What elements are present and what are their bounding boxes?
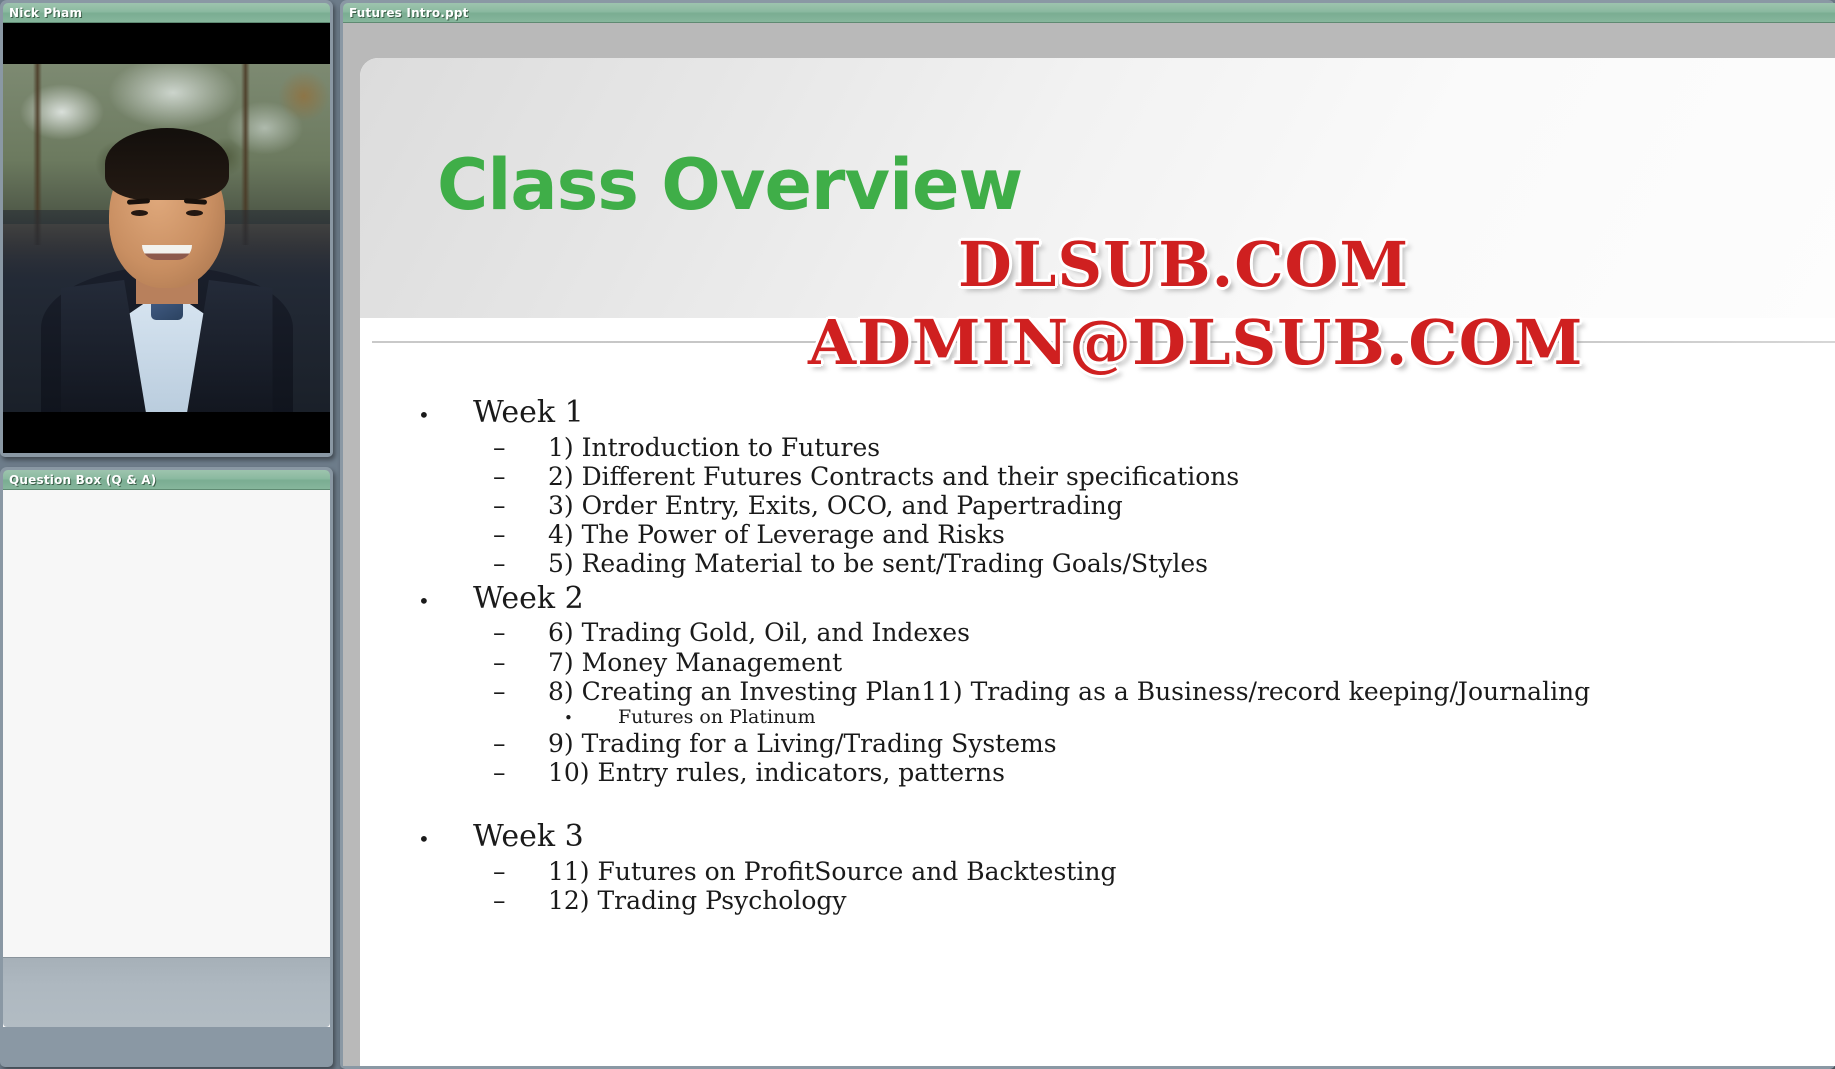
outline-item-level-2: –9) Trading for a Living/Trading Systems	[418, 729, 1805, 758]
outline-item-level-1: •Week 1	[418, 393, 1805, 433]
eye-left	[131, 210, 148, 216]
presenter-video-title: Nick Pham	[9, 6, 82, 20]
outline-bullet-marker: –	[418, 886, 548, 915]
outline-bullet-marker: –	[418, 677, 548, 706]
webinar-window: Nick Pham	[0, 0, 1835, 1069]
presentation-file-title: Futures Intro.ppt	[349, 6, 469, 20]
outline-item-level-3: •Futures on Platinum	[418, 706, 1805, 729]
outline-item-text: 9) Trading for a Living/Trading Systems	[548, 729, 1057, 758]
outline-bullet-marker: •	[418, 588, 473, 615]
slide-canvas[interactable]: Class Overview DLSUB.COM ADMIN@DLSUB.COM…	[360, 58, 1835, 1066]
outline-item-level-2: –4) The Power of Leverage and Risks	[418, 520, 1805, 549]
outline-item-text: 2) Different Futures Contracts and their…	[548, 462, 1239, 491]
outline-bullet-marker: –	[418, 549, 548, 578]
outline-item-text: Week 2	[473, 579, 584, 619]
question-box-body	[3, 490, 330, 1027]
outline-bullet-marker: •	[418, 402, 473, 429]
outline-item-level-2: –8) Creating an Investing Plan11) Tradin…	[418, 677, 1805, 706]
eye-right	[186, 210, 203, 216]
outline-item-text: Week 1	[473, 393, 584, 433]
outline-bullet-marker: –	[418, 491, 548, 520]
outline-item-text: 8) Creating an Investing Plan11) Trading…	[548, 677, 1590, 706]
outline-item-text: 12) Trading Psychology	[548, 886, 847, 915]
slide-heading: Class Overview	[437, 150, 1022, 220]
video-stage[interactable]	[3, 23, 330, 453]
outline-item-level-2: –11) Futures on ProfitSource and Backtes…	[418, 857, 1805, 886]
outline-item-level-2: –2) Different Futures Contracts and thei…	[418, 462, 1805, 491]
presenter-figure	[17, 64, 317, 412]
outline-item-level-2: –1) Introduction to Futures	[418, 433, 1805, 462]
outline-bullet-marker: •	[418, 826, 473, 853]
presenter-video-panel: Nick Pham	[0, 0, 333, 457]
question-box-panel: Question Box (Q & A)	[0, 467, 333, 1067]
outline-bullet-marker: –	[418, 618, 548, 647]
outline-item-level-1: •Week 2	[418, 579, 1805, 619]
presenter-video-titlebar: Nick Pham	[3, 3, 330, 23]
outline-item-text: 7) Money Management	[548, 648, 842, 677]
outline-item-text: 11) Futures on ProfitSource and Backtest…	[548, 857, 1116, 886]
question-box-titlebar: Question Box (Q & A)	[3, 470, 330, 490]
smiling-mouth	[142, 245, 192, 260]
question-input[interactable]	[3, 957, 330, 1027]
outline-item-text: Futures on Platinum	[618, 706, 816, 729]
outline-item-level-2: –5) Reading Material to be sent/Trading …	[418, 549, 1805, 578]
outline-item-text: 10) Entry rules, indicators, patterns	[548, 758, 1005, 787]
outline-bullet-marker: –	[418, 729, 548, 758]
outline-item-text: 1) Introduction to Futures	[548, 433, 880, 462]
outline-item-level-2: –10) Entry rules, indicators, patterns	[418, 758, 1805, 787]
outline-bullet-marker: •	[418, 709, 618, 727]
slide-title-divider	[372, 341, 1835, 343]
outline-bullet-marker: –	[418, 462, 548, 491]
outline-bullet-marker: –	[418, 433, 548, 462]
presentation-body: Class Overview DLSUB.COM ADMIN@DLSUB.COM…	[343, 23, 1835, 1066]
outline-item-text: 4) The Power of Leverage and Risks	[548, 520, 1005, 549]
outline-item-level-2: –12) Trading Psychology	[418, 886, 1805, 915]
video-letterbox-top	[3, 23, 330, 64]
question-log[interactable]	[3, 490, 330, 957]
outline-spacer	[418, 787, 1805, 817]
outline-bullet-marker: –	[418, 758, 548, 787]
outline-bullet-marker: –	[418, 648, 548, 677]
outline-item-level-1: •Week 3	[418, 817, 1805, 857]
outline-bullet-marker: –	[418, 857, 548, 886]
video-frame	[3, 64, 330, 412]
outline-bullet-marker: –	[418, 520, 548, 549]
outline-item-level-2: –7) Money Management	[418, 648, 1805, 677]
outline-item-text: 5) Reading Material to be sent/Trading G…	[548, 549, 1208, 578]
presentation-panel: Futures Intro.ppt Class Overview DLSUB.C…	[340, 0, 1835, 1069]
outline-item-level-2: –3) Order Entry, Exits, OCO, and Papertr…	[418, 491, 1805, 520]
outline-item-text: 3) Order Entry, Exits, OCO, and Papertra…	[548, 491, 1123, 520]
slide-outline: •Week 1–1) Introduction to Futures–2) Di…	[418, 393, 1805, 915]
presentation-titlebar: Futures Intro.ppt	[343, 3, 1835, 23]
question-box-title: Question Box (Q & A)	[9, 473, 156, 487]
video-letterbox-bottom	[3, 412, 330, 453]
outline-item-text: Week 3	[473, 817, 584, 857]
outline-item-level-2: –6) Trading Gold, Oil, and Indexes	[418, 618, 1805, 647]
presenter-hair	[105, 128, 229, 200]
presenter-video-body[interactable]	[3, 23, 330, 453]
outline-item-text: 6) Trading Gold, Oil, and Indexes	[548, 618, 970, 647]
